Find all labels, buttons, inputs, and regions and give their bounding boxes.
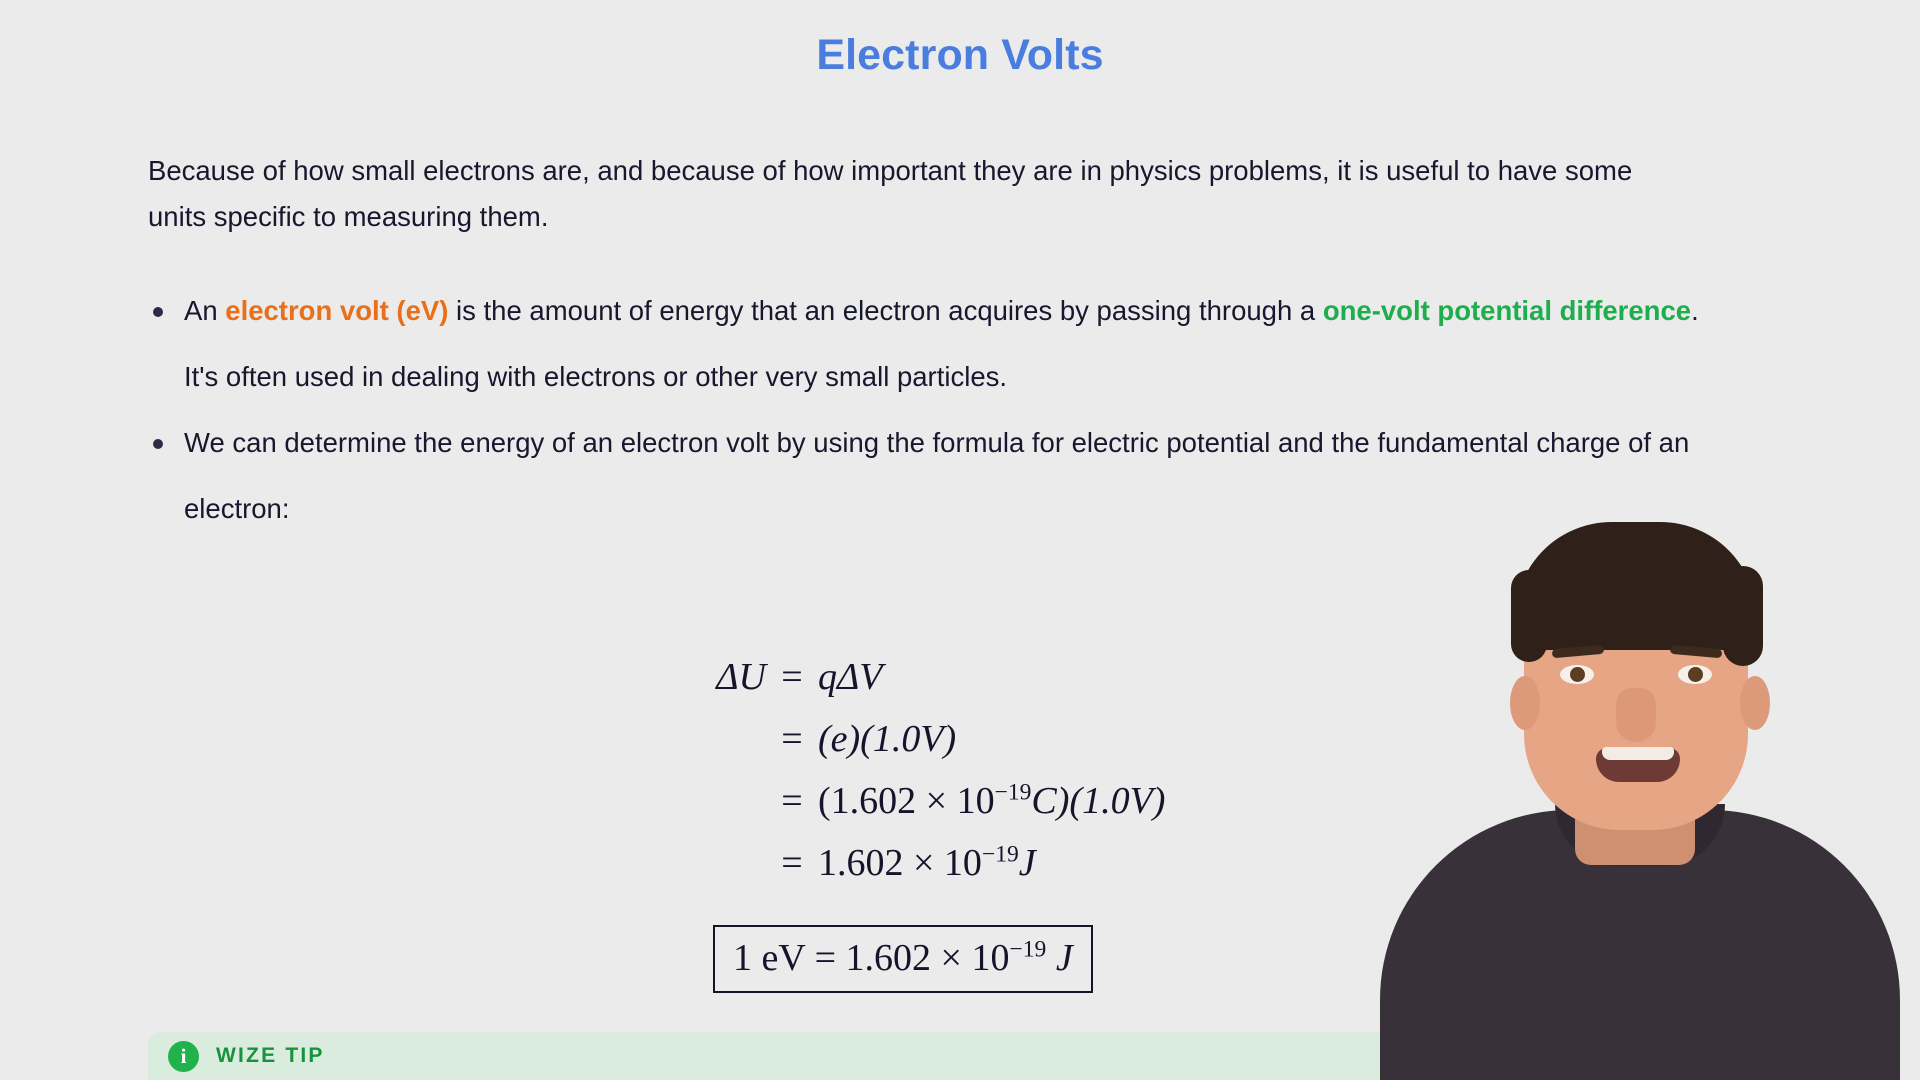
equation-row-4-tail: J (1019, 842, 1036, 884)
presenter-eye-right (1678, 665, 1712, 684)
equation-row-4: = 1.602 × 10−19J (648, 841, 1165, 903)
term-electron-volt: electron volt (eV) (225, 295, 448, 326)
intro-paragraph: Because of how small electrons are, and … (148, 148, 1693, 240)
presenter-neck (1575, 755, 1695, 865)
info-icon: i (168, 1041, 199, 1072)
equation-row-4-equals: = (766, 841, 818, 885)
bullet-1-text-part-1: An (184, 295, 225, 326)
presenter-eyebrow-right (1670, 645, 1723, 658)
equation-row-3-equals: = (766, 779, 818, 823)
wize-tip-label: WIZE TIP (216, 1044, 325, 1068)
wize-tip-banner: i WIZE TIP (148, 1032, 1858, 1080)
boxed-equation-unit: J (1046, 937, 1072, 979)
presenter-pupil-right (1688, 667, 1703, 682)
equation-row-2-rhs: (e)(1.0V) (818, 717, 956, 761)
equation-row-3: = (1.602 × 10−19C)(1.0V) (648, 779, 1165, 841)
presenter-nose (1616, 688, 1656, 742)
equation-derivation: ΔU = qΔV = (e)(1.0V) = (1.602 × 10−19C)(… (648, 655, 1165, 903)
presenter-head (1524, 540, 1748, 830)
equation-row-1-lhs: ΔU (648, 655, 766, 699)
equation-row-4-base: 1.602 × 10 (818, 842, 982, 884)
presenter-eyebrow-left (1552, 645, 1605, 658)
equation-row-3-exponent: −19 (995, 779, 1032, 805)
equation-row-3-tail: C)(1.0V) (1031, 780, 1165, 822)
boxed-result-equation: 1 eV = 1.602 × 10−19 J (713, 925, 1093, 993)
bullet-2-text: We can determine the energy of an electr… (184, 427, 1689, 524)
presenter-teeth (1602, 747, 1674, 760)
equation-row-1-equals: = (766, 655, 818, 699)
presenter-mouth (1596, 748, 1680, 782)
equation-row-1-rhs: qΔV (818, 655, 883, 699)
presenter-ear-right (1740, 676, 1770, 730)
list-item: An electron volt (eV) is the amount of e… (148, 278, 1708, 410)
equation-row-3-base: (1.602 × 10 (818, 780, 995, 822)
equation-row-3-rhs: (1.602 × 10−19C)(1.0V) (818, 779, 1165, 823)
slide-content: Because of how small electrons are, and … (148, 148, 1708, 542)
bullet-1-text-part-3: is the amount of energy that an electron… (448, 295, 1322, 326)
term-one-volt-potential-difference: one-volt potential difference (1323, 295, 1691, 326)
boxed-equation-exponent: −19 (1009, 936, 1046, 962)
presenter-pupil-left (1570, 667, 1585, 682)
equation-row-1: ΔU = qΔV (648, 655, 1165, 717)
slide-canvas: Electron Volts Because of how small elec… (0, 0, 1920, 1080)
equation-row-2-equals: = (766, 717, 818, 761)
equation-row-4-rhs: 1.602 × 10−19J (818, 841, 1036, 885)
list-item: We can determine the energy of an electr… (148, 410, 1708, 542)
presenter-ear-left (1510, 676, 1540, 730)
boxed-equation-base: 1 eV = 1.602 × 10 (733, 937, 1009, 979)
equation-row-2: = (e)(1.0V) (648, 717, 1165, 779)
presenter-eye-left (1560, 665, 1594, 684)
page-title: Electron Volts (0, 31, 1920, 80)
bullet-list: An electron volt (eV) is the amount of e… (148, 278, 1708, 542)
equation-row-4-exponent: −19 (982, 841, 1019, 867)
